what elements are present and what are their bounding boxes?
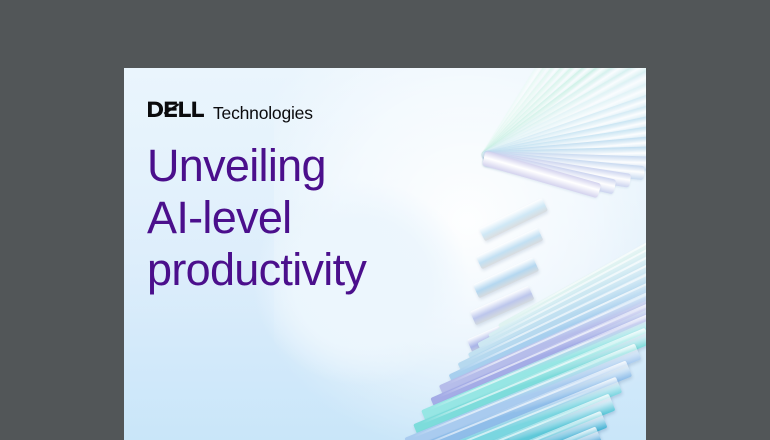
helix-slat-highlight: [505, 183, 646, 322]
helix-slat: [467, 228, 646, 367]
helix-slat: [389, 377, 623, 440]
helix-slat-highlight: [429, 315, 646, 410]
helix-blade-upper: [482, 94, 646, 164]
helix-slat: [458, 245, 646, 378]
dell-wordmark-icon: [148, 100, 212, 119]
helix-blade-upper: [480, 68, 551, 160]
helix-slat: [396, 361, 631, 440]
helix-slat: [498, 179, 646, 338]
helix-slat-highlight: [382, 415, 595, 440]
helix-slat: [477, 212, 646, 357]
helix-rim-blade: [473, 257, 539, 298]
helix-blade-upper: [480, 68, 612, 162]
helix-rim-blade: [459, 403, 517, 439]
helix-rim-blade: [476, 227, 544, 269]
logo-technologies-text: Technologies: [213, 105, 313, 123]
helix-slat-highlight: [374, 432, 588, 440]
helix-rim-blade: [464, 344, 526, 382]
helix-blade-upper: [481, 68, 646, 163]
helix-blade-upper: [482, 82, 646, 164]
helix-slat-highlight: [495, 199, 646, 331]
helix-blade-upper: [483, 151, 645, 180]
helix-slat-highlight: [396, 382, 609, 440]
helix-blade-upper: [484, 151, 646, 171]
helix-slat: [430, 294, 646, 412]
helix-slat: [439, 278, 646, 401]
helix-blade-upper: [481, 68, 646, 163]
helix-slat-highlight: [437, 299, 646, 398]
helix-blade-upper: [482, 69, 646, 163]
helix-blade-upper: [483, 121, 646, 164]
helix-slat-highlight: [404, 365, 618, 440]
helix-blade-upper: [482, 151, 616, 194]
helix-slat-highlight: [465, 249, 646, 362]
helix-blade-upper: [480, 68, 566, 161]
helix-slat: [367, 427, 602, 440]
helix-blade-upper: [483, 151, 631, 188]
helix-slat: [448, 261, 646, 388]
helix-rim-blade: [467, 315, 530, 354]
dell-technologies-logo: Technologies: [148, 100, 313, 120]
helix-slat: [374, 410, 608, 440]
helix-rim-blade: [479, 198, 548, 241]
helix-blade-upper: [483, 134, 646, 165]
cover-panel[interactable]: Technologies Unveiling AI-level producti…: [124, 68, 646, 440]
helix-slat-highlight: [485, 216, 646, 342]
helix-slat-highlight: [389, 398, 602, 440]
helix-blade-upper: [480, 68, 596, 161]
helix-slat: [488, 195, 646, 347]
helix-blade-upper: [484, 146, 646, 165]
helix-blade-upper: [480, 68, 581, 161]
screenshot-canvas: Technologies Unveiling AI-level producti…: [0, 0, 770, 440]
helix-slat: [413, 327, 646, 439]
helix-rim-blade: [462, 374, 522, 411]
helix-slat: [421, 311, 646, 426]
helix-slat-highlight: [475, 232, 646, 351]
helix-slat-highlight: [446, 282, 646, 385]
helix-slat-highlight: [412, 349, 628, 439]
helix-blade-upper: [481, 68, 643, 162]
helix-slat-highlight: [455, 266, 646, 374]
helix-blade-upper: [483, 108, 646, 164]
helix-blade-upper: [481, 68, 628, 162]
helix-rim-blade: [470, 286, 535, 326]
helix-slat: [404, 344, 640, 440]
page-title: Unveiling AI-level productivity: [147, 140, 477, 296]
helix-blade-upper: [481, 68, 646, 163]
helix-blade-upper: [482, 151, 601, 198]
helix-rim-blade: [456, 432, 513, 440]
helix-slat-highlight: [420, 332, 638, 424]
helix-slat: [381, 394, 615, 440]
